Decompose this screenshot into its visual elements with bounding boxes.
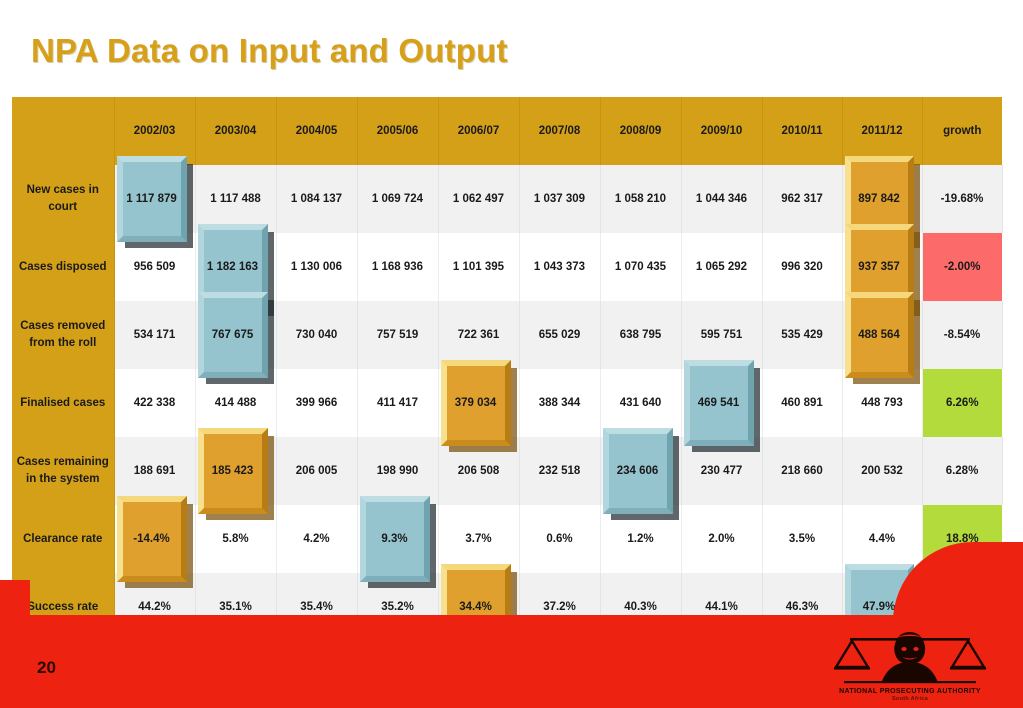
data-cell: 399 966 <box>276 369 357 437</box>
data-cell: 469 541 <box>681 369 762 437</box>
table-corner-cell <box>12 97 114 165</box>
data-cell-value: 34.4% <box>459 601 492 613</box>
data-cell-value: 35.4% <box>300 601 333 613</box>
data-cell-value: 722 361 <box>458 329 500 341</box>
column-header-2004-05: 2004/05 <box>276 97 357 165</box>
data-cell-value: 962 317 <box>781 193 823 205</box>
column-header-2006-07: 2006/07 <box>438 97 519 165</box>
data-cell-value: 388 344 <box>539 397 581 409</box>
data-cell-value: 185 423 <box>212 465 254 477</box>
data-cell-value: 595 751 <box>701 329 743 341</box>
data-cell-value: 0.6% <box>546 533 572 545</box>
data-cell-value: 44.2% <box>138 601 171 613</box>
data-cell: 414 488 <box>195 369 276 437</box>
header-row: 2002/032003/042004/052005/062006/072007/… <box>12 97 1002 165</box>
data-cell: 206 508 <box>438 437 519 505</box>
table-row: Cases disposed956 5091 182 1631 130 0061… <box>12 233 1002 301</box>
column-header-2007-08: 2007/08 <box>519 97 600 165</box>
growth-cell: 6.28% <box>922 437 1002 505</box>
row-label: Clearance rate <box>12 505 114 573</box>
footer-curve-left <box>0 580 30 640</box>
data-cell: 4.4% <box>842 505 922 573</box>
highlight-box-gold: -14.4% <box>117 496 187 582</box>
highlight-box-blue: 767 675 <box>198 292 268 378</box>
data-cell: 1 044 346 <box>681 165 762 233</box>
data-cell: 200 532 <box>842 437 922 505</box>
data-cell-value: 1.2% <box>627 533 653 545</box>
data-cell-value: -14.4% <box>133 533 169 545</box>
data-cell: 962 317 <box>762 165 842 233</box>
data-cell: 9.3% <box>357 505 438 573</box>
highlight-box-blue: 9.3% <box>360 496 430 582</box>
data-cell-value: 1 101 395 <box>453 261 504 273</box>
data-cell: 206 005 <box>276 437 357 505</box>
data-cell: 1 084 137 <box>276 165 357 233</box>
data-cell-value: 411 417 <box>377 397 418 409</box>
npa-logo: NATIONAL PROSECUTING AUTHORITY South Afr… <box>825 614 995 702</box>
data-cell: 232 518 <box>519 437 600 505</box>
data-cell-value: 1 084 137 <box>291 193 342 205</box>
data-cell: 1 058 210 <box>600 165 681 233</box>
data-cell: 422 338 <box>114 369 195 437</box>
data-cell: 1 130 006 <box>276 233 357 301</box>
data-cell: 4.2% <box>276 505 357 573</box>
data-cell-value: 35.2% <box>381 601 414 613</box>
column-header-2011-12: 2011/12 <box>842 97 922 165</box>
data-cell-value: 399 966 <box>296 397 338 409</box>
data-cell: 1 117 488 <box>195 165 276 233</box>
highlight-box-gold: 185 423 <box>198 428 268 514</box>
npa-data-table: 2002/032003/042004/052005/062006/072007/… <box>12 97 1003 641</box>
logo-organisation-name: NATIONAL PROSECUTING AUTHORITY <box>839 688 981 695</box>
data-cell-value: 422 338 <box>134 397 176 409</box>
data-cell-value: 1 043 373 <box>534 261 585 273</box>
data-cell: 3.7% <box>438 505 519 573</box>
data-cell-value: 996 320 <box>781 261 823 273</box>
data-cell-value: 3.7% <box>465 533 491 545</box>
data-cell: 1 168 936 <box>357 233 438 301</box>
row-label: Cases removed from the roll <box>12 301 114 369</box>
data-cell: 1 037 309 <box>519 165 600 233</box>
data-cell-value: 937 357 <box>858 261 900 273</box>
data-cell-value: 1 069 724 <box>372 193 423 205</box>
data-cell-value: 2.0% <box>708 533 734 545</box>
slide-canvas: NPA Data on Input and Output 2002/032003… <box>0 0 1023 708</box>
data-cell: 1 043 373 <box>519 233 600 301</box>
data-cell-value: 40.3% <box>624 601 657 613</box>
column-header-2003-04: 2003/04 <box>195 97 276 165</box>
logo-country-label: South Africa <box>892 696 928 702</box>
column-header-growth: growth <box>922 97 1002 165</box>
data-cell-value: 206 508 <box>458 465 500 477</box>
data-cell-value: 35.1% <box>219 601 252 613</box>
data-cell-value: 534 171 <box>134 329 176 341</box>
data-cell: 897 842 <box>842 165 922 233</box>
data-cell: 488 564 <box>842 301 922 369</box>
data-cell-value: 4.4% <box>869 533 895 545</box>
data-cell: 535 429 <box>762 301 842 369</box>
data-cell-value: 460 891 <box>781 397 823 409</box>
data-cell: 185 423 <box>195 437 276 505</box>
table-row: Finalised cases422 338414 488399 966411 … <box>12 369 1002 437</box>
data-cell-value: 218 660 <box>781 465 823 477</box>
data-cell-value: 1 062 497 <box>453 193 504 205</box>
data-cell-value: 44.1% <box>705 601 738 613</box>
data-cell: 411 417 <box>357 369 438 437</box>
data-cell-value: 379 034 <box>455 397 497 409</box>
data-cell-value: 1 130 006 <box>291 261 342 273</box>
data-cell: 1 069 724 <box>357 165 438 233</box>
data-cell-value: 757 519 <box>377 329 419 341</box>
data-cell-value: 232 518 <box>539 465 581 477</box>
growth-cell: -8.54% <box>922 301 1002 369</box>
data-cell-value: 1 070 435 <box>615 261 666 273</box>
table-row: Cases removed from the roll534 171767 67… <box>12 301 1002 369</box>
data-cell: 595 751 <box>681 301 762 369</box>
data-cell-value: 1 117 879 <box>126 193 177 205</box>
data-cell-value: 198 990 <box>377 465 419 477</box>
data-cell-value: 448 793 <box>861 397 903 409</box>
data-cell: 1 117 879 <box>114 165 195 233</box>
growth-cell: -2.00% <box>922 233 1002 301</box>
data-cell: 638 795 <box>600 301 681 369</box>
data-cell: 0.6% <box>519 505 600 573</box>
row-label: Cases remaining in the system <box>12 437 114 505</box>
data-cell-value: 1 182 163 <box>207 261 258 273</box>
slide-page-number: 20 <box>37 658 56 678</box>
highlight-box-blue: 469 541 <box>684 360 754 446</box>
data-cell: 1 065 292 <box>681 233 762 301</box>
row-label: New cases in court <box>12 165 114 233</box>
scales-of-justice-icon <box>830 627 990 689</box>
data-cell: 1 062 497 <box>438 165 519 233</box>
data-cell: 937 357 <box>842 233 922 301</box>
data-cell: 379 034 <box>438 369 519 437</box>
data-cell-value: 9.3% <box>381 533 407 545</box>
highlight-box-blue: 234 606 <box>603 428 673 514</box>
data-cell-value: 956 509 <box>134 261 176 273</box>
data-cell: 5.8% <box>195 505 276 573</box>
data-cell-value: 230 477 <box>701 465 743 477</box>
data-cell-value: 1 044 346 <box>696 193 747 205</box>
data-cell: 767 675 <box>195 301 276 369</box>
data-cell-value: 1 117 488 <box>210 193 261 205</box>
highlight-box-gold: 488 564 <box>845 292 914 378</box>
data-cell: -14.4% <box>114 505 195 573</box>
data-cell-value: 3.5% <box>789 533 815 545</box>
data-cell-value: 47.9% <box>863 601 896 613</box>
highlight-box-gold: 379 034 <box>441 360 511 446</box>
column-header-2008-09: 2008/09 <box>600 97 681 165</box>
growth-cell: -19.68% <box>922 165 1002 233</box>
data-cell-value: 1 037 309 <box>534 193 585 205</box>
column-header-2005-06: 2005/06 <box>357 97 438 165</box>
table-header: 2002/032003/042004/052005/062006/072007/… <box>12 97 1002 165</box>
data-cell-value: 5.8% <box>222 533 248 545</box>
data-cell-value: 730 040 <box>296 329 338 341</box>
table-row: New cases in court1 117 8791 117 4881 08… <box>12 165 1002 233</box>
data-cell-value: 469 541 <box>698 397 740 409</box>
data-table-container: 2002/032003/042004/052005/062006/072007/… <box>12 97 1002 621</box>
data-cell: 1 182 163 <box>195 233 276 301</box>
data-cell: 230 477 <box>681 437 762 505</box>
data-cell: 218 660 <box>762 437 842 505</box>
data-cell-value: 1 065 292 <box>696 261 747 273</box>
data-cell: 757 519 <box>357 301 438 369</box>
data-cell: 730 040 <box>276 301 357 369</box>
data-cell: 1.2% <box>600 505 681 573</box>
data-cell: 2.0% <box>681 505 762 573</box>
data-cell-value: 200 532 <box>861 465 903 477</box>
data-cell: 234 606 <box>600 437 681 505</box>
data-cell: 1 070 435 <box>600 233 681 301</box>
data-cell: 3.5% <box>762 505 842 573</box>
data-cell: 655 029 <box>519 301 600 369</box>
table-body: New cases in court1 117 8791 117 4881 08… <box>12 165 1002 641</box>
column-header-2009-10: 2009/10 <box>681 97 762 165</box>
data-cell-value: 46.3% <box>786 601 819 613</box>
data-cell: 956 509 <box>114 233 195 301</box>
data-cell-value: 767 675 <box>212 329 254 341</box>
column-header-2002-03: 2002/03 <box>114 97 195 165</box>
data-cell-value: 638 795 <box>620 329 662 341</box>
column-header-2010-11: 2010/11 <box>762 97 842 165</box>
data-cell-value: 535 429 <box>781 329 823 341</box>
highlight-box-blue: 1 117 879 <box>117 156 187 242</box>
data-cell: 448 793 <box>842 369 922 437</box>
data-cell-value: 431 640 <box>620 397 662 409</box>
row-label: Cases disposed <box>12 233 114 301</box>
data-cell: 198 990 <box>357 437 438 505</box>
data-cell-value: 206 005 <box>296 465 338 477</box>
data-cell-value: 488 564 <box>858 329 900 341</box>
data-cell-value: 37.2% <box>543 601 576 613</box>
page-title: NPA Data on Input and Output <box>31 32 508 70</box>
data-cell: 460 891 <box>762 369 842 437</box>
data-cell-value: 234 606 <box>617 465 659 477</box>
table-row: Clearance rate-14.4%5.8%4.2%9.3%3.7%0.6%… <box>12 505 1002 573</box>
data-cell: 431 640 <box>600 369 681 437</box>
data-cell-value: 897 842 <box>858 193 900 205</box>
data-cell-value: 655 029 <box>539 329 581 341</box>
growth-cell: 6.26% <box>922 369 1002 437</box>
data-cell: 188 691 <box>114 437 195 505</box>
data-cell-value: 4.2% <box>303 533 329 545</box>
data-cell-value: 1 168 936 <box>372 261 423 273</box>
data-cell: 722 361 <box>438 301 519 369</box>
data-cell: 996 320 <box>762 233 842 301</box>
data-cell: 1 101 395 <box>438 233 519 301</box>
data-cell-value: 414 488 <box>215 397 257 409</box>
row-label: Finalised cases <box>12 369 114 437</box>
data-cell-value: 188 691 <box>134 465 176 477</box>
data-cell: 534 171 <box>114 301 195 369</box>
data-cell-value: 1 058 210 <box>615 193 666 205</box>
data-cell: 388 344 <box>519 369 600 437</box>
table-row: Cases remaining in the system188 691185 … <box>12 437 1002 505</box>
